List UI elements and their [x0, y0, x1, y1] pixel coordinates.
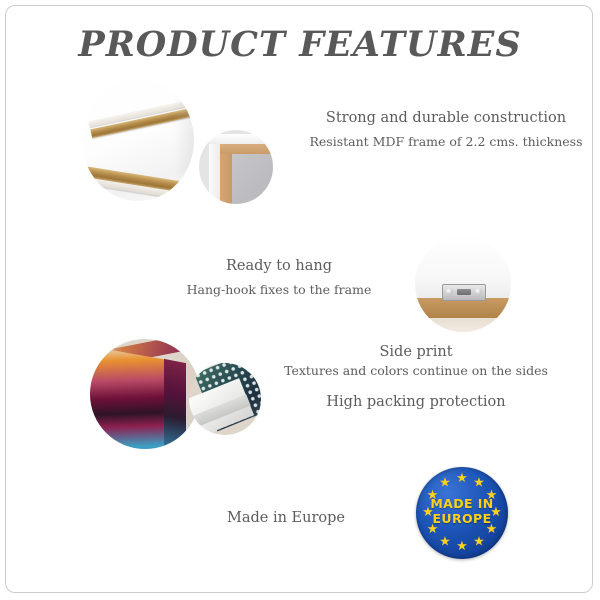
page-title: PRODUCT FEATURES [6, 24, 593, 65]
product-features-card: PRODUCT FEATURES Strong and durable cons… [5, 5, 593, 593]
feature-packing-text: High packing protection [281, 394, 551, 410]
frame-wood-strip [415, 298, 511, 318]
eu-star-7: ★ [456, 541, 468, 553]
metal-hook-bracket [442, 284, 486, 301]
eu-star-2: ★ [473, 478, 485, 490]
hook-screw-hole-left [446, 288, 453, 295]
feature-side-print-heading: Side print [261, 344, 571, 360]
hook-screw-hole-right [475, 288, 482, 295]
eu-badge-text: MADE IN EUROPE [416, 496, 508, 526]
eu-star-12: ★ [439, 478, 451, 490]
frame-pale-strip [415, 318, 511, 332]
frame-white-horizontal [209, 134, 273, 144]
canvas-printed-side [164, 359, 186, 449]
feature-hanging-heading: Ready to hang [154, 258, 404, 274]
hang-hook-photo [415, 236, 511, 332]
frame-white-vertical [209, 134, 220, 204]
eu-star-6: ★ [473, 536, 485, 548]
eu-badge-line2: EUROPE [416, 511, 508, 526]
hook-center-bar [457, 289, 471, 295]
eu-badge-line1: MADE IN [416, 496, 508, 511]
feature-durability-heading: Strong and durable construction [296, 110, 593, 126]
feature-side-print-subtext: Textures and colors continue on the side… [261, 363, 571, 378]
feature-origin-heading: Made in Europe [186, 510, 386, 526]
frame-shadow [174, 79, 194, 201]
eu-star-8: ★ [439, 536, 451, 548]
feature-durability-subtext: Resistant MDF frame of 2.2 cms. thicknes… [296, 134, 593, 149]
canvas-back-surface [225, 146, 273, 204]
feature-hanging-subtext: Hang-hook fixes to the frame [154, 282, 404, 297]
eu-star-1: ★ [456, 473, 468, 485]
bubble-wrap-photo [189, 363, 261, 435]
feature-durability-text: Strong and durable construction Resistan… [296, 110, 593, 149]
frame-corner-photo [199, 130, 273, 204]
feature-side-print-text: Side print Textures and colors continue … [261, 344, 571, 378]
canvas-side-print-photo [90, 339, 200, 449]
feature-packing-heading: High packing protection [281, 394, 551, 410]
frame-profile-photo [82, 79, 194, 201]
feature-origin-text: Made in Europe [186, 510, 386, 526]
feature-hanging-text: Ready to hang Hang-hook fixes to the fra… [154, 258, 404, 297]
made-in-europe-badge: ★★★★★★★★★★★★ MADE IN EUROPE [416, 467, 508, 559]
